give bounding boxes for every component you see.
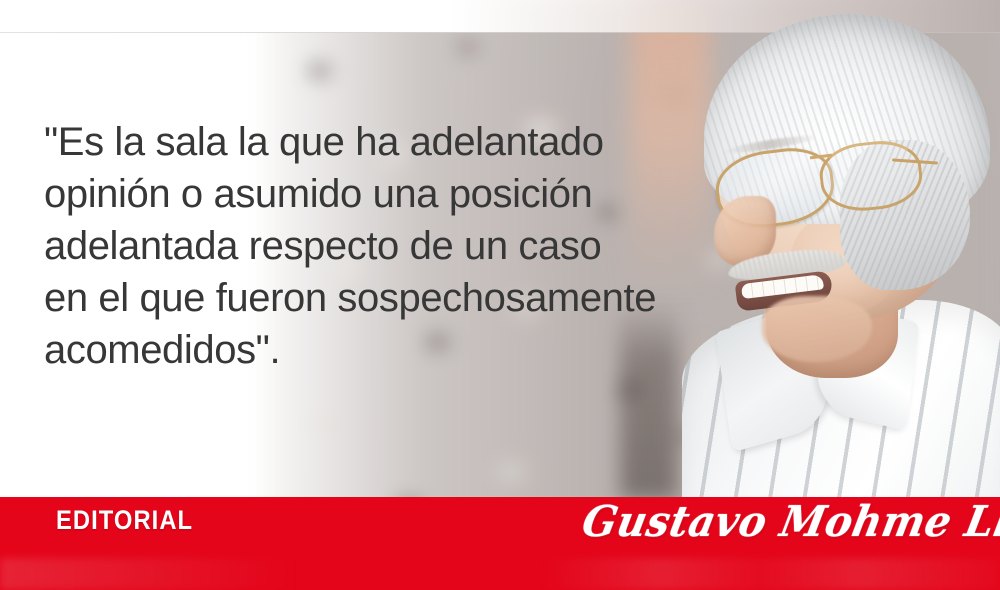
footer-band-sheen [0, 558, 1000, 590]
author-signature: Gustavo Mohme Llona [578, 497, 1000, 547]
section-label-editorial: EDITORIAL [56, 505, 193, 536]
editorial-quote-text: "Es la sala la que ha adelantado opinión… [44, 116, 724, 376]
editorial-banner: "Es la sala la que ha adelantado opinión… [0, 0, 1000, 590]
